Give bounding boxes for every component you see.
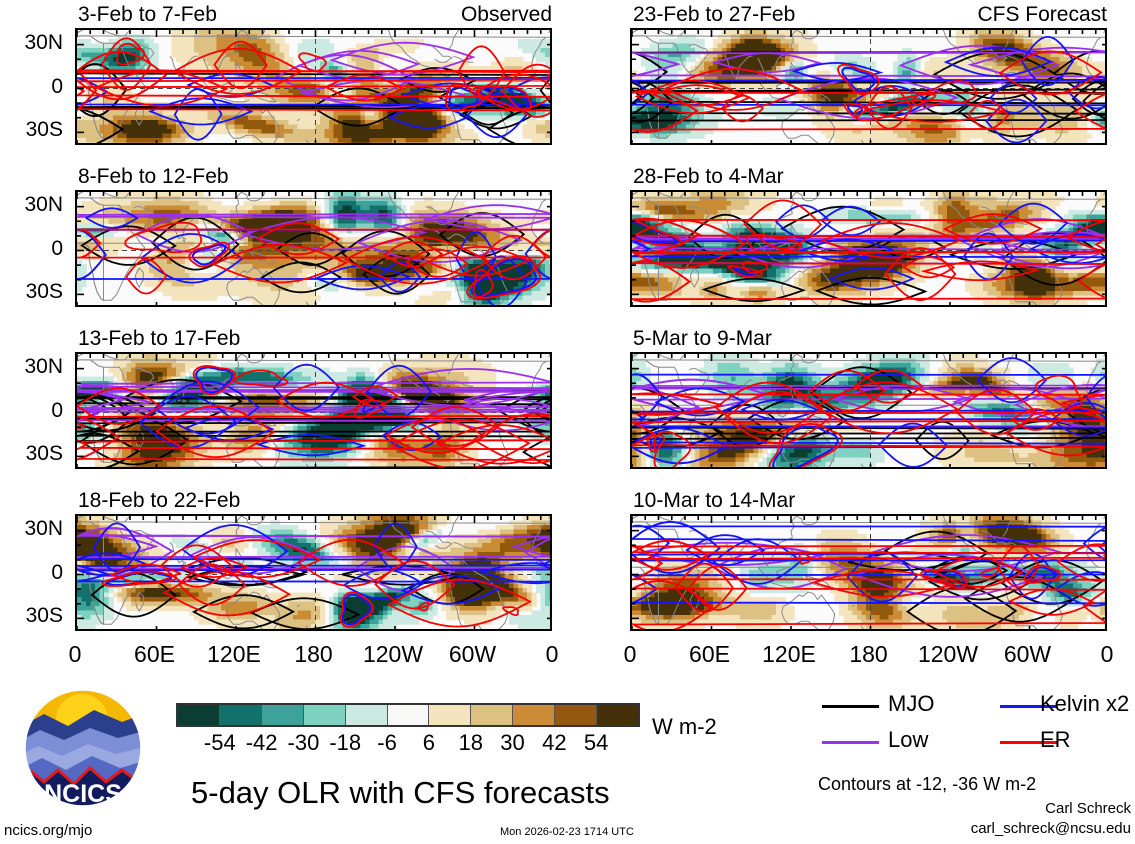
longitude-tick-label: 120W bbox=[908, 643, 988, 666]
latitude-tick-label: 30N bbox=[0, 518, 63, 539]
longitude-tick-label: 180 bbox=[829, 643, 909, 666]
colorbar-tick-label: 54 bbox=[568, 732, 624, 754]
longitude-tick-label: 60W bbox=[988, 643, 1068, 666]
colorbar-segment bbox=[387, 705, 429, 725]
column-header: Observed bbox=[75, 4, 552, 25]
legend-line-swatch bbox=[822, 705, 879, 708]
latitude-tick-label: 30N bbox=[0, 356, 63, 377]
generation-timestamp: Mon 2026-02-23 1714 UTC bbox=[500, 826, 634, 838]
ncics-logo[interactable]: NCICS bbox=[18, 686, 148, 816]
panel-title: 10-Mar to 14-Mar bbox=[633, 490, 795, 511]
panel-title: 28-Feb to 4-Mar bbox=[633, 166, 784, 187]
map-panel bbox=[75, 190, 552, 307]
colorbar-segment bbox=[261, 705, 303, 725]
ncics-logo-art: NCICS bbox=[18, 686, 148, 816]
colorbar-segment bbox=[554, 705, 596, 725]
longitude-tick-label: 0 bbox=[35, 643, 115, 666]
latitude-tick-label: 30N bbox=[0, 194, 63, 215]
colorbar-segment bbox=[303, 705, 345, 725]
colorbar-unit-label: W m-2 bbox=[652, 716, 717, 738]
latitude-tick-label: 0 bbox=[0, 400, 63, 421]
panel-title: 5-Mar to 9-Mar bbox=[633, 328, 772, 349]
longitude-tick-label: 60E bbox=[670, 643, 750, 666]
longitude-tick-label: 120E bbox=[194, 643, 274, 666]
longitude-tick-label: 60E bbox=[115, 643, 195, 666]
colorbar-segment bbox=[512, 705, 554, 725]
author-email[interactable]: carl_schreck@ncsu.edu bbox=[971, 820, 1131, 838]
author-name: Carl Schreck bbox=[1045, 800, 1131, 818]
longitude-tick-label: 180 bbox=[274, 643, 354, 666]
colorbar-segment bbox=[345, 705, 387, 725]
ncics-logo-wordmark: NCICS bbox=[44, 780, 122, 808]
site-url[interactable]: ncics.org/mjo bbox=[4, 823, 92, 839]
map-panel bbox=[630, 190, 1107, 307]
legend-label: Low bbox=[888, 729, 928, 751]
colorbar-segment bbox=[596, 705, 638, 725]
latitude-tick-label: 30S bbox=[0, 119, 63, 140]
map-panel-canvas bbox=[632, 516, 1107, 631]
colorbar-segment bbox=[470, 705, 512, 725]
colorbar-segment bbox=[428, 705, 470, 725]
colorbar-segment bbox=[219, 705, 261, 725]
column-header: CFS Forecast bbox=[630, 4, 1107, 25]
map-panel bbox=[75, 352, 552, 469]
longitude-tick-label: 60W bbox=[433, 643, 513, 666]
map-panel-canvas bbox=[632, 354, 1107, 469]
longitude-tick-label: 0 bbox=[1067, 643, 1135, 666]
map-panel-canvas bbox=[77, 192, 552, 307]
latitude-tick-label: 0 bbox=[0, 562, 63, 583]
map-panel bbox=[630, 514, 1107, 631]
legend-label: ER bbox=[1040, 729, 1071, 751]
map-panel-canvas bbox=[632, 192, 1107, 307]
longitude-tick-label: 120W bbox=[353, 643, 433, 666]
figure-title: 5-day OLR with CFS forecasts bbox=[191, 777, 610, 808]
longitude-tick-label: 0 bbox=[590, 643, 670, 666]
legend-line-swatch bbox=[822, 741, 879, 744]
longitude-tick-label: 120E bbox=[749, 643, 829, 666]
colorbar-segment bbox=[178, 705, 219, 725]
latitude-tick-label: 30N bbox=[0, 32, 63, 53]
contour-level-note: Contours at -12, -36 W m-2 bbox=[818, 775, 1036, 793]
map-panel bbox=[75, 28, 552, 145]
map-panel bbox=[630, 352, 1107, 469]
legend-label: Kelvin x2 bbox=[1040, 693, 1129, 715]
legend-label: MJO bbox=[888, 693, 934, 715]
latitude-tick-label: 30S bbox=[0, 281, 63, 302]
panel-title: 18-Feb to 22-Feb bbox=[78, 490, 240, 511]
map-panel-canvas bbox=[632, 30, 1107, 145]
latitude-tick-label: 0 bbox=[0, 76, 63, 97]
map-panel bbox=[75, 514, 552, 631]
longitude-tick-label: 0 bbox=[512, 643, 592, 666]
colorbar bbox=[176, 703, 640, 727]
latitude-tick-label: 0 bbox=[0, 238, 63, 259]
panel-title: 13-Feb to 17-Feb bbox=[78, 328, 240, 349]
map-panel-canvas bbox=[77, 354, 552, 469]
latitude-tick-label: 30S bbox=[0, 443, 63, 464]
map-panel-canvas bbox=[77, 516, 552, 631]
latitude-tick-label: 30S bbox=[0, 605, 63, 626]
map-panel-canvas bbox=[77, 30, 552, 145]
panel-title: 8-Feb to 12-Feb bbox=[78, 166, 229, 187]
map-panel bbox=[630, 28, 1107, 145]
